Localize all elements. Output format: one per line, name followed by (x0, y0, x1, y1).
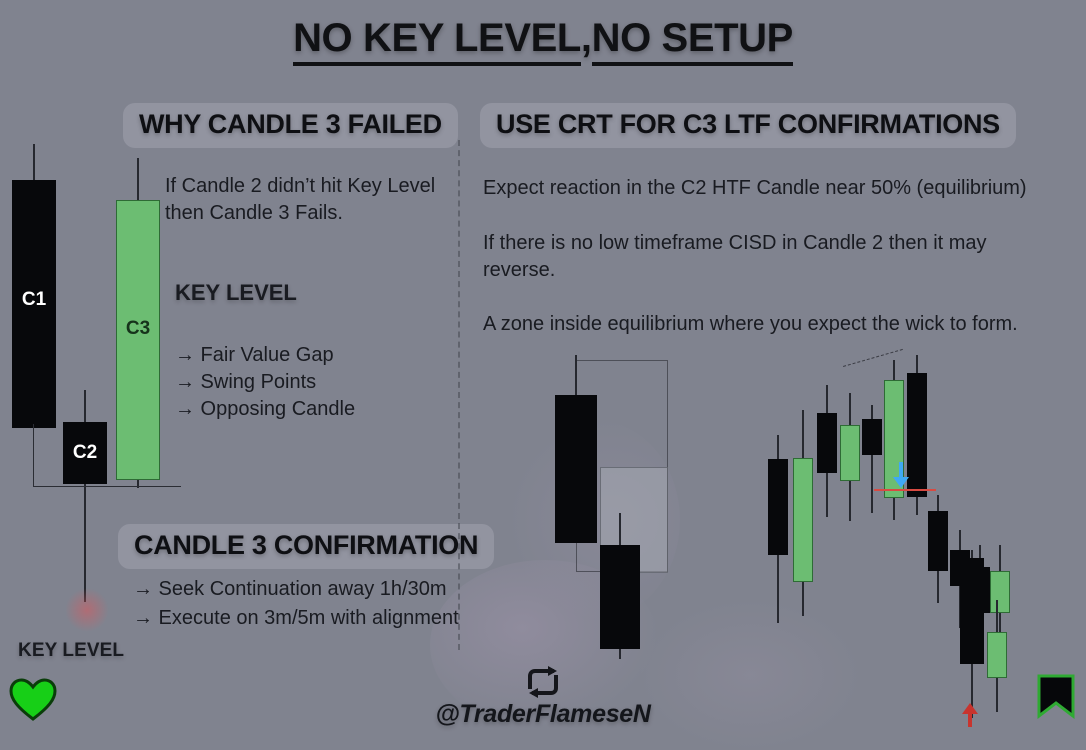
ltf-candle-3-body (817, 413, 837, 473)
candle-c1-label: C1 (12, 289, 56, 311)
infographic-canvas: NO KEY LEVEL,NO SETUP WHY CANDLE 3 FAILE… (0, 0, 1086, 734)
ltf-candle-12-body (960, 558, 984, 664)
ltf-candle-3 (817, 385, 837, 525)
mid-candle-1 (555, 355, 597, 545)
ltf-candle-12 (960, 550, 984, 720)
chart-right-ltf (760, 350, 1020, 730)
key-level-item: → Fair Value Gap (175, 342, 455, 369)
key-level-item: → Opposing Candle (175, 396, 455, 423)
candle-c2-label: C2 (63, 442, 107, 464)
ltf-candle-13-body (987, 632, 1007, 678)
confirmation-list: → Seek Continuation away 1h/30m → Execut… (133, 575, 463, 633)
candle-c3: C3 (116, 158, 160, 508)
sell-arrow-icon (893, 462, 909, 495)
mid-candle-2 (600, 513, 640, 665)
low-bracket-tick-left (33, 424, 34, 486)
mid-candle-1-wick (575, 355, 577, 395)
ltf-candle-1-body (768, 459, 788, 555)
page-title: NO KEY LEVEL,NO SETUP (0, 16, 1086, 61)
ltf-candle-2-body (793, 458, 813, 582)
key-level-heading: KEY LEVEL (175, 279, 297, 306)
ltf-candle-5-body (862, 419, 882, 455)
right-paragraph-1: Expect reaction in the C2 HTF Candle nea… (483, 175, 1063, 202)
page-title-part1: NO KEY LEVEL (293, 16, 581, 66)
key-level-marker-dot (65, 588, 109, 632)
ltf-candle-5 (862, 405, 882, 520)
ltf-candle-7-body (907, 373, 927, 497)
low-bracket-line (33, 486, 181, 487)
ltf-candle-6 (884, 360, 904, 532)
mid-candle-1-body (555, 395, 597, 543)
key-level-list: → Fair Value Gap → Swing Points → Opposi… (175, 342, 455, 423)
page-title-comma: , (581, 16, 592, 60)
candle-c3-label: C3 (116, 318, 160, 340)
candle-c1-wick (33, 144, 35, 180)
page-title-part2: NO SETUP (592, 16, 793, 66)
ltf-candle-1 (768, 435, 788, 635)
ltf-candle-8 (928, 495, 948, 610)
candle-c1: C1 (12, 144, 56, 444)
key-level-item: → Swing Points (175, 369, 455, 396)
ltf-candle-4-body (840, 425, 860, 481)
author-handle: @TraderFlameseN (0, 700, 1086, 729)
left-lead-paragraph: If Candle 2 didn’t hit Key Level then Ca… (165, 173, 465, 227)
mid-candle-2-body (600, 545, 640, 649)
ltf-candle-4 (840, 393, 860, 528)
ltf-candle-7 (907, 355, 927, 525)
candle-c3-body (116, 200, 160, 480)
chart-mid-equilibrium-diagram (545, 355, 685, 665)
repost-icon[interactable] (524, 666, 562, 703)
confirmation-item: → Seek Continuation away 1h/30m (133, 575, 463, 604)
right-paragraph-2: If there is no low timeframe CISD in Can… (483, 230, 1028, 284)
section-header-use-crt: USE CRT FOR C3 LTF CONFIRMATIONS (480, 103, 1016, 148)
key-level-caption: KEY LEVEL (18, 637, 124, 664)
ltf-candle-8-body (928, 511, 948, 571)
ltf-candle-2 (793, 410, 813, 626)
confirmation-item: → Execute on 3m/5m with alignment (133, 604, 463, 633)
right-paragraph-3: A zone inside equilibrium where you expe… (483, 311, 1063, 338)
